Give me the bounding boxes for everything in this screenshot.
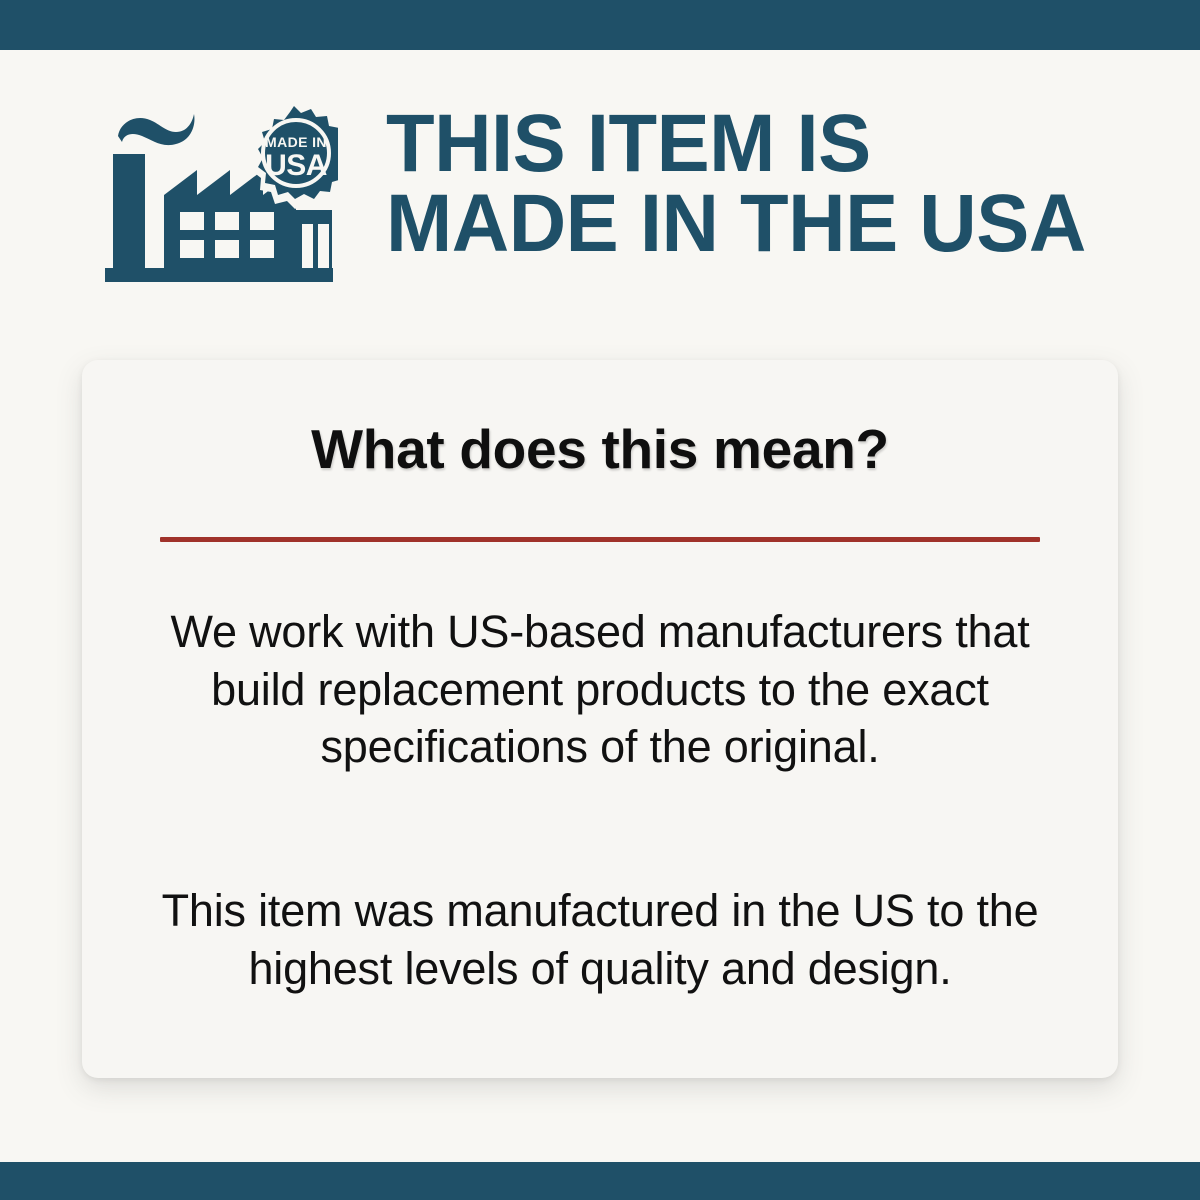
top-band	[0, 0, 1200, 50]
bottom-band	[0, 1162, 1200, 1200]
factory-icon: MADE IN USA	[100, 98, 338, 288]
info-card: What does this mean? We work with US-bas…	[82, 360, 1118, 1078]
smoke-icon	[118, 114, 194, 145]
headline-line-1: THIS ITEM IS	[386, 104, 1176, 184]
title-divider	[160, 537, 1040, 542]
made-in-usa-logo: MADE IN USA	[100, 98, 338, 288]
factory-base-icon	[105, 268, 333, 282]
made-in-usa-badge-icon: MADE IN USA	[251, 100, 338, 209]
card-title: What does this mean?	[82, 422, 1118, 477]
badge-line2: USA	[265, 149, 327, 182]
headline-line-2: MADE IN THE USA	[386, 184, 1176, 264]
card-paragraph-1: We work with US-based manufacturers that…	[142, 603, 1058, 776]
page-root: MADE IN USA THIS ITEM IS MADE IN THE USA…	[0, 0, 1200, 1200]
page-title: THIS ITEM IS MADE IN THE USA	[386, 92, 1176, 265]
badge-line1: MADE IN	[265, 134, 327, 150]
header: MADE IN USA THIS ITEM IS MADE IN THE USA	[0, 92, 1200, 292]
smokestack-icon	[113, 154, 145, 268]
card-paragraph-2: This item was manufactured in the US to …	[142, 882, 1058, 997]
